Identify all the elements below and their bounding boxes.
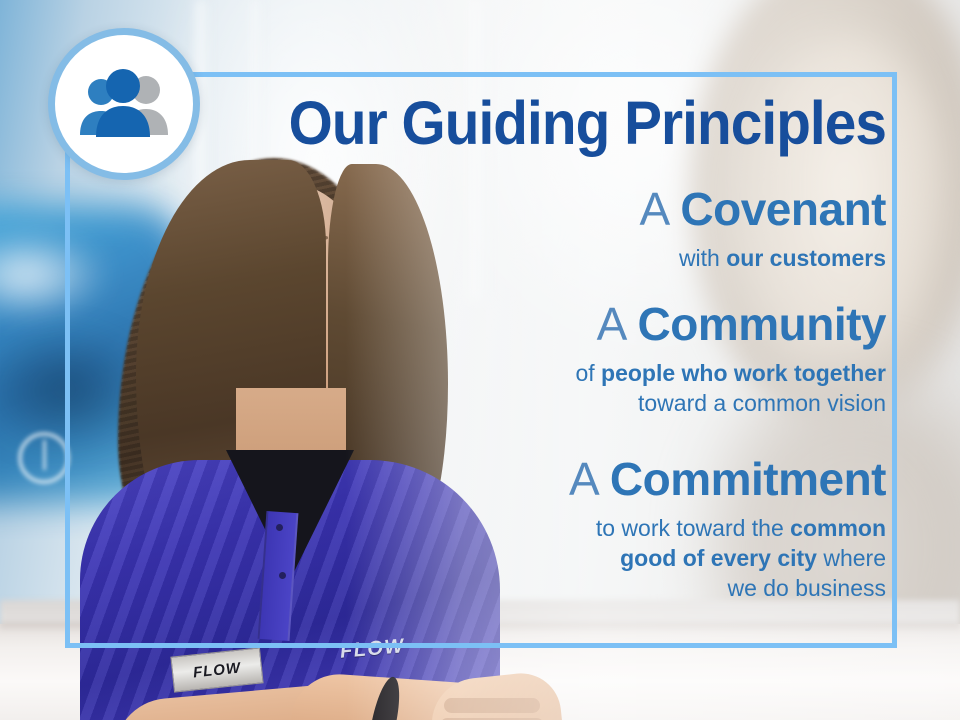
text-content: Our Guiding Principles A Covenant with o… bbox=[0, 0, 960, 720]
page-title: Our Guiding Principles bbox=[62, 93, 886, 154]
principle-subtext: of people who work together toward a com… bbox=[0, 358, 886, 419]
principle-subtext-line: we do business bbox=[0, 573, 886, 603]
principle-headline: A Covenant bbox=[0, 185, 886, 235]
principle-subtext-line: of people who work together bbox=[0, 358, 886, 388]
principle-subtext: to work toward the common good of every … bbox=[0, 513, 886, 604]
principle-subtext: with our customers bbox=[0, 243, 886, 273]
principle-block-covenant: A Covenant with our customers bbox=[0, 185, 886, 273]
principle-block-community: A Community of people who work together … bbox=[0, 300, 886, 418]
subtext-segment-bold: good of every city bbox=[620, 545, 817, 571]
principle-subtext-line: toward a common vision bbox=[0, 388, 886, 418]
subtext-segment: toward a common vision bbox=[638, 390, 886, 416]
subtext-segment: of bbox=[575, 360, 601, 386]
principle-keyword: Covenant bbox=[680, 183, 886, 235]
principle-subtext-line: to work toward the common bbox=[0, 513, 886, 543]
subtext-segment-bold: common bbox=[790, 515, 886, 541]
subtext-segment: with bbox=[679, 245, 726, 271]
subtext-segment: we do business bbox=[727, 575, 886, 601]
principle-subtext-line: good of every city where bbox=[0, 543, 886, 573]
principle-article: A bbox=[569, 453, 597, 505]
principle-article: A bbox=[597, 298, 625, 350]
principle-keyword: Community bbox=[638, 298, 887, 350]
principle-headline: A Community bbox=[0, 300, 886, 350]
principle-subtext-line: with our customers bbox=[0, 243, 886, 273]
graphic-canvas: FLOW FLOW Our Guiding bbox=[0, 0, 960, 720]
subtext-segment: where bbox=[817, 545, 886, 571]
subtext-segment-bold: our customers bbox=[726, 245, 886, 271]
principle-headline: A Commitment bbox=[0, 455, 886, 505]
subtext-segment: to work toward the bbox=[596, 515, 790, 541]
principle-block-commitment: A Commitment to work toward the common g… bbox=[0, 455, 886, 604]
principle-article: A bbox=[639, 183, 667, 235]
principle-keyword: Commitment bbox=[610, 453, 886, 505]
subtext-segment-bold: people who work together bbox=[601, 360, 886, 386]
